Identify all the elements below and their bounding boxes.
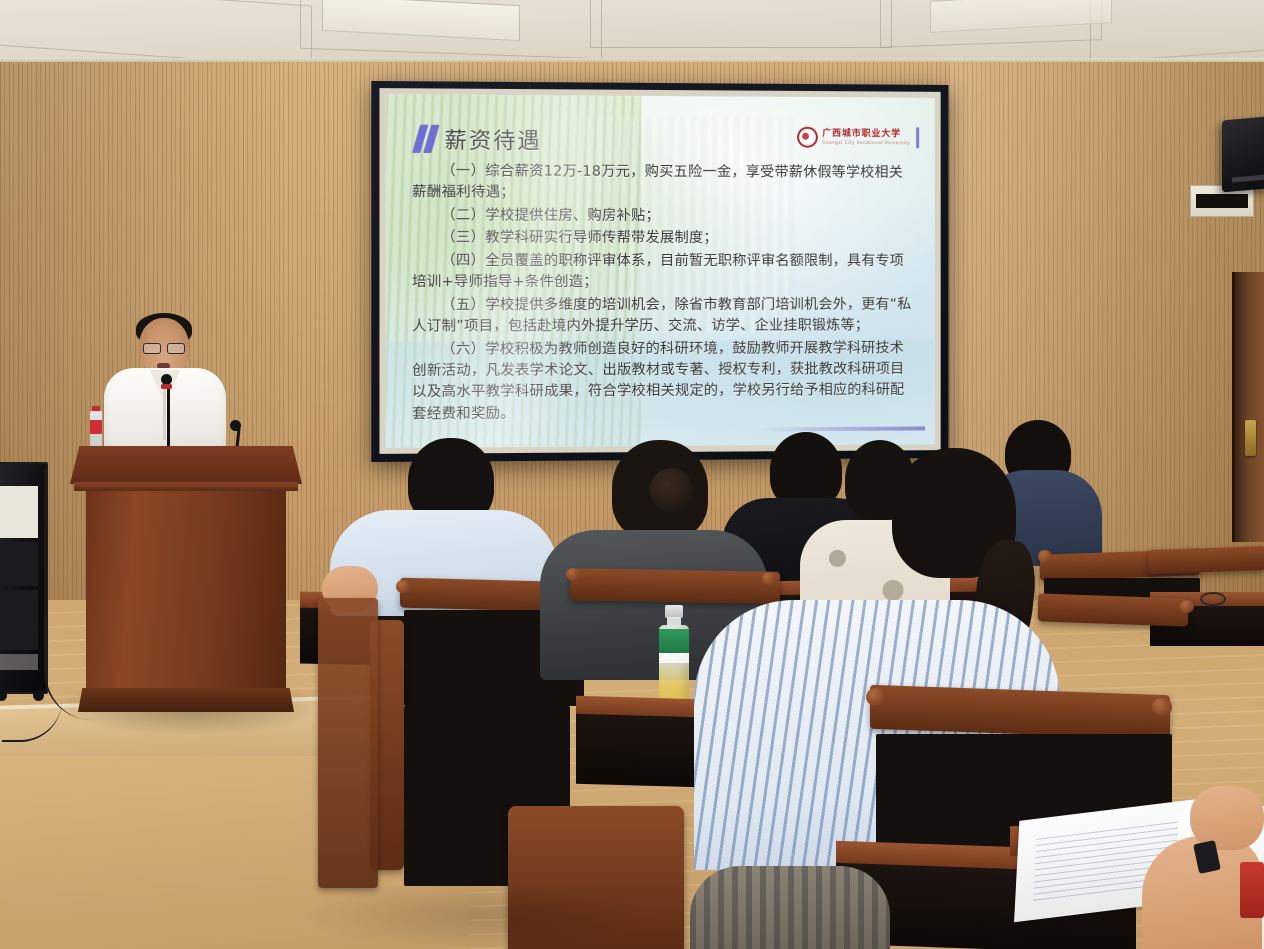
- microphone-ring: [161, 384, 172, 389]
- wall-speaker-icon: [1222, 116, 1264, 193]
- chair-knob: [1038, 550, 1052, 563]
- door-handle[interactable]: [1245, 420, 1256, 456]
- chair-back[interactable]: [318, 598, 378, 888]
- chair-knob: [1152, 698, 1172, 716]
- slide-paragraph: （一）综合薪资12万-18万元，购买五险一金，享受带薪休假等学校相关薪酬福利待遇…: [412, 161, 915, 206]
- slide-body: （一）综合薪资12万-18万元，购买五险一金，享受带薪休假等学校相关薪酬福利待遇…: [412, 161, 915, 427]
- attendee-hair-bun: [650, 468, 692, 512]
- lanyard-badge: [1240, 862, 1264, 918]
- chair-back[interactable]: [1148, 546, 1264, 574]
- cup-ring: [1200, 592, 1226, 606]
- projection-screen: 薪资待遇 广西城市职业大学 Guangxi City Vocational Un…: [371, 81, 948, 462]
- logo-name-en: Guangxi City Vocational University: [822, 141, 910, 146]
- chair-knob: [762, 572, 776, 585]
- microphone-head-icon: [230, 420, 241, 431]
- logo-name-cn: 广西城市职业大学: [822, 130, 910, 139]
- chair-back[interactable]: [570, 568, 780, 604]
- av-equipment-rack[interactable]: [0, 462, 48, 694]
- water-bottle[interactable]: [89, 406, 103, 450]
- lectern-body: [86, 491, 286, 692]
- attendee-hand: [1190, 786, 1264, 850]
- page-title: 薪资待遇: [445, 123, 542, 156]
- chair-knob: [396, 580, 410, 593]
- slide-title-row: 薪资待遇: [416, 123, 542, 156]
- chair-knob: [566, 568, 580, 581]
- university-logo: 广西城市职业大学 Guangxi City Vocational Univers…: [797, 127, 919, 148]
- slide-paragraph: （四）全员覆盖的职称评审体系，目前暂无职称评审名额限制，具有专项培训+导师指导+…: [412, 251, 915, 294]
- slide-paragraph: （六）学校积极为教师创造良好的科研环境，鼓励教师开展教学科研技术创新活动，凡发表…: [412, 338, 915, 426]
- slide-paragraph: （五）学校提供多维度的培训机会，除省市教育部门培训机会外，更有“私人订制”项目，…: [412, 294, 915, 338]
- lectern-lip: [74, 482, 298, 491]
- title-accent-bars-icon: [416, 125, 435, 153]
- chair-back[interactable]: [1038, 593, 1188, 626]
- lectern-base: [78, 688, 294, 712]
- chair-knob: [866, 688, 886, 706]
- slide-paragraph: （三）教学科研实行导师传帮带发展制度；: [412, 228, 915, 250]
- glasses-icon: [143, 343, 185, 352]
- slide-paragraph: （二）学校提供住房、购房补贴；: [412, 205, 915, 227]
- lectern-top: [70, 446, 302, 484]
- chair-knob: [1180, 600, 1194, 613]
- floor-shadow: [300, 880, 660, 949]
- slide-surface: 薪资待遇 广西城市职业大学 Guangxi City Vocational Un…: [386, 94, 935, 448]
- seal-icon: [797, 127, 818, 148]
- conference-room-photo: 薪资待遇 广西城市职业大学 Guangxi City Vocational Un…: [0, 0, 1264, 949]
- room-door[interactable]: [1232, 272, 1264, 542]
- microphone-stem: [167, 382, 170, 454]
